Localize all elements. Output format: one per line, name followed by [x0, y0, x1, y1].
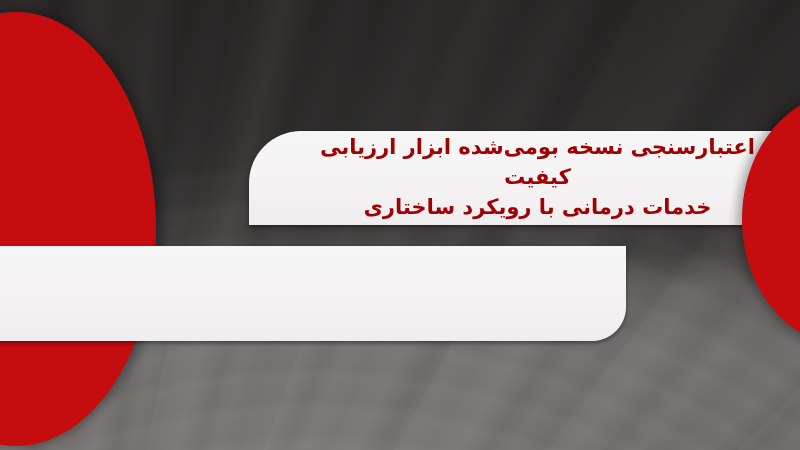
title-panel[interactable]: اعتبارسنجی نسخه بومی‌شده ابزار ارزیابی ک… — [249, 131, 800, 225]
presentation-slide: اعتبارسنجی نسخه بومی‌شده ابزار ارزیابی ک… — [0, 0, 800, 450]
subtitle-text — [0, 246, 626, 262]
content-placeholder-panel[interactable] — [0, 246, 626, 341]
slide-title: اعتبارسنجی نسخه بومی‌شده ابزار ارزیابی ک… — [249, 133, 800, 222]
